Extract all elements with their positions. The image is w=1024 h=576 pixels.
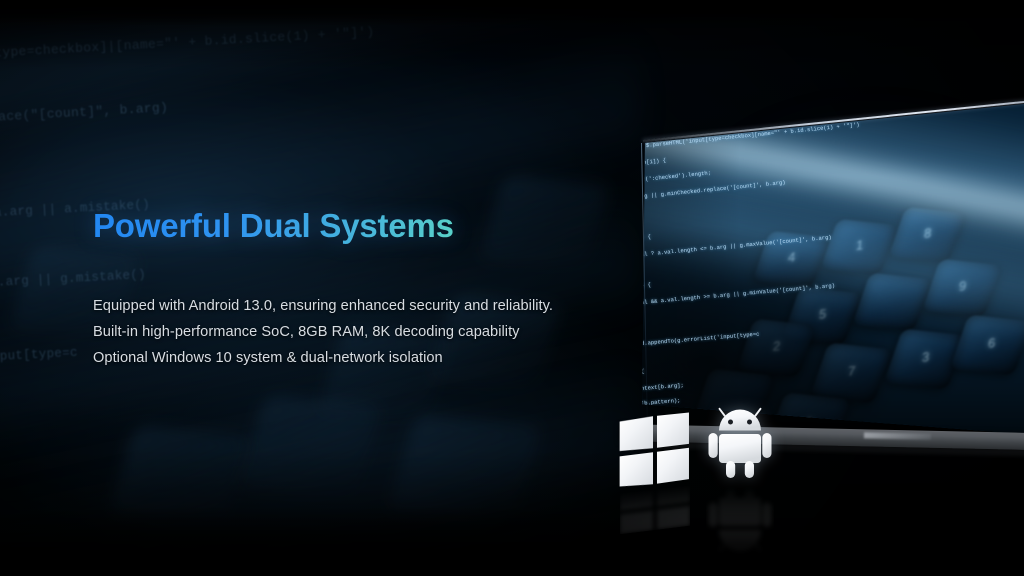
windows-logo	[620, 413, 689, 490]
android-body	[719, 434, 761, 463]
slide-canvas: type=checkbox]|[name="' + b.id.slice(1) …	[0, 0, 1024, 576]
windows-pane-bottom-right	[657, 448, 689, 484]
android-antenna-right	[756, 409, 761, 416]
feature-item: Built-in high-performance SoC, 8GB RAM, …	[93, 320, 613, 346]
android-arm-right	[762, 433, 771, 458]
feature-item: Equipped with Android 13.0, ensuring enh…	[93, 294, 613, 320]
android-eye-right	[747, 420, 752, 425]
android-arm-left	[709, 433, 718, 458]
top-letterbox	[0, 0, 1024, 26]
android-leg-right	[745, 461, 754, 478]
android-eye-left	[728, 420, 733, 425]
android-antenna-left	[720, 409, 725, 416]
android-robot-logo	[706, 406, 774, 480]
android-head	[719, 410, 761, 431]
windows-pane-top-right	[657, 413, 689, 448]
windows-pane-top-left	[620, 416, 653, 452]
bottom-letterbox	[0, 506, 1024, 576]
feature-list: Equipped with Android 13.0, ensuring enh…	[93, 294, 613, 372]
text-block: Powerful Dual Systems Equipped with Andr…	[93, 206, 613, 372]
page-title: Powerful Dual Systems	[93, 206, 613, 246]
windows-pane-bottom-left	[620, 452, 653, 489]
android-leg-left	[726, 461, 735, 478]
feature-item: Optional Windows 10 system & dual-networ…	[93, 346, 613, 372]
